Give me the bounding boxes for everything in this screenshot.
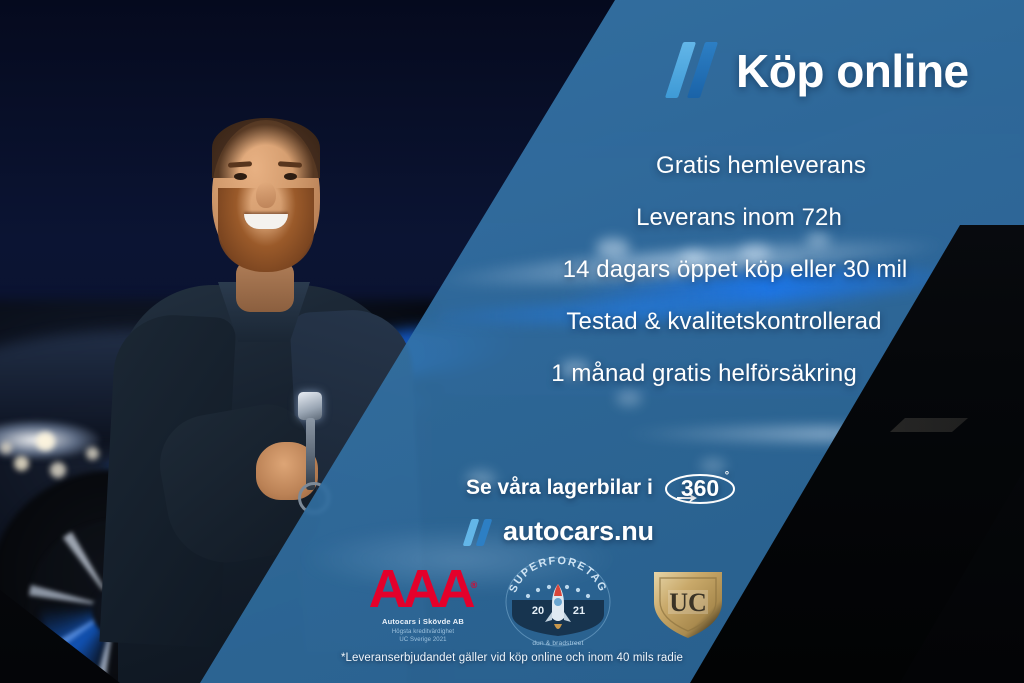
- feature-item: 1 månad gratis helförsäkring: [384, 348, 1024, 400]
- aaa-letters: AAA: [369, 559, 471, 619]
- cta-line-2[interactable]: autocars.nu: [466, 516, 737, 547]
- cta-line-1: Se våra lagerbilar i 360 °: [466, 466, 737, 510]
- trust-logo-row: AAA® Autocars i Skövde AB Högsta kreditv…: [348, 556, 768, 648]
- registered-trademark-icon: ®: [471, 580, 478, 590]
- svg-text:360: 360: [681, 475, 719, 501]
- call-to-action[interactable]: Se våra lagerbilar i 360 ° autocars.nu: [466, 466, 737, 547]
- double-slash-icon: [672, 42, 720, 100]
- double-slash-icon-small: [466, 517, 496, 547]
- superforetag-badge-logo: SUPERFÖRETAG 20 21 dun & bradstreet: [500, 556, 616, 648]
- uc-mark: UC: [669, 588, 707, 617]
- 360-badge-icon: 360 °: [663, 466, 737, 510]
- feature-item: Gratis hemleverans: [498, 140, 1024, 192]
- feature-item: 14 dagars öppet köp eller 30 mil: [446, 244, 1024, 296]
- aaa-subtitle: Högsta kreditvärdighetUC Sverige 2021: [358, 628, 488, 644]
- advertisement-banner: Köp online Gratis hemleverans Leverans i…: [0, 0, 1024, 683]
- superforetag-year-left: 20: [532, 605, 544, 617]
- feature-item: Leverans inom 72h: [454, 192, 1024, 244]
- superforetag-footer: dun & bradstreet: [500, 640, 616, 647]
- feature-item: Testad & kvalitetskontrollerad: [424, 296, 1024, 348]
- website-url[interactable]: autocars.nu: [503, 516, 654, 547]
- page-title: Köp online: [736, 44, 969, 98]
- cta-text: Se våra lagerbilar i: [466, 476, 653, 500]
- feature-list: Gratis hemleverans Leverans inom 72h 14 …: [440, 140, 1024, 400]
- headline-row: Köp online: [672, 42, 969, 100]
- aaa-mark: AAA®: [358, 564, 488, 615]
- aaa-credit-rating-logo: AAA® Autocars i Skövde AB Högsta kreditv…: [358, 564, 488, 644]
- ad-content: Köp online Gratis hemleverans Leverans i…: [0, 0, 1024, 683]
- svg-text:°: °: [725, 470, 729, 482]
- superforetag-year-right: 21: [573, 605, 585, 617]
- disclaimer-text: *Leveranserbjudandet gäller vid köp onli…: [0, 652, 1024, 664]
- uc-shield-logo: UC: [648, 564, 728, 642]
